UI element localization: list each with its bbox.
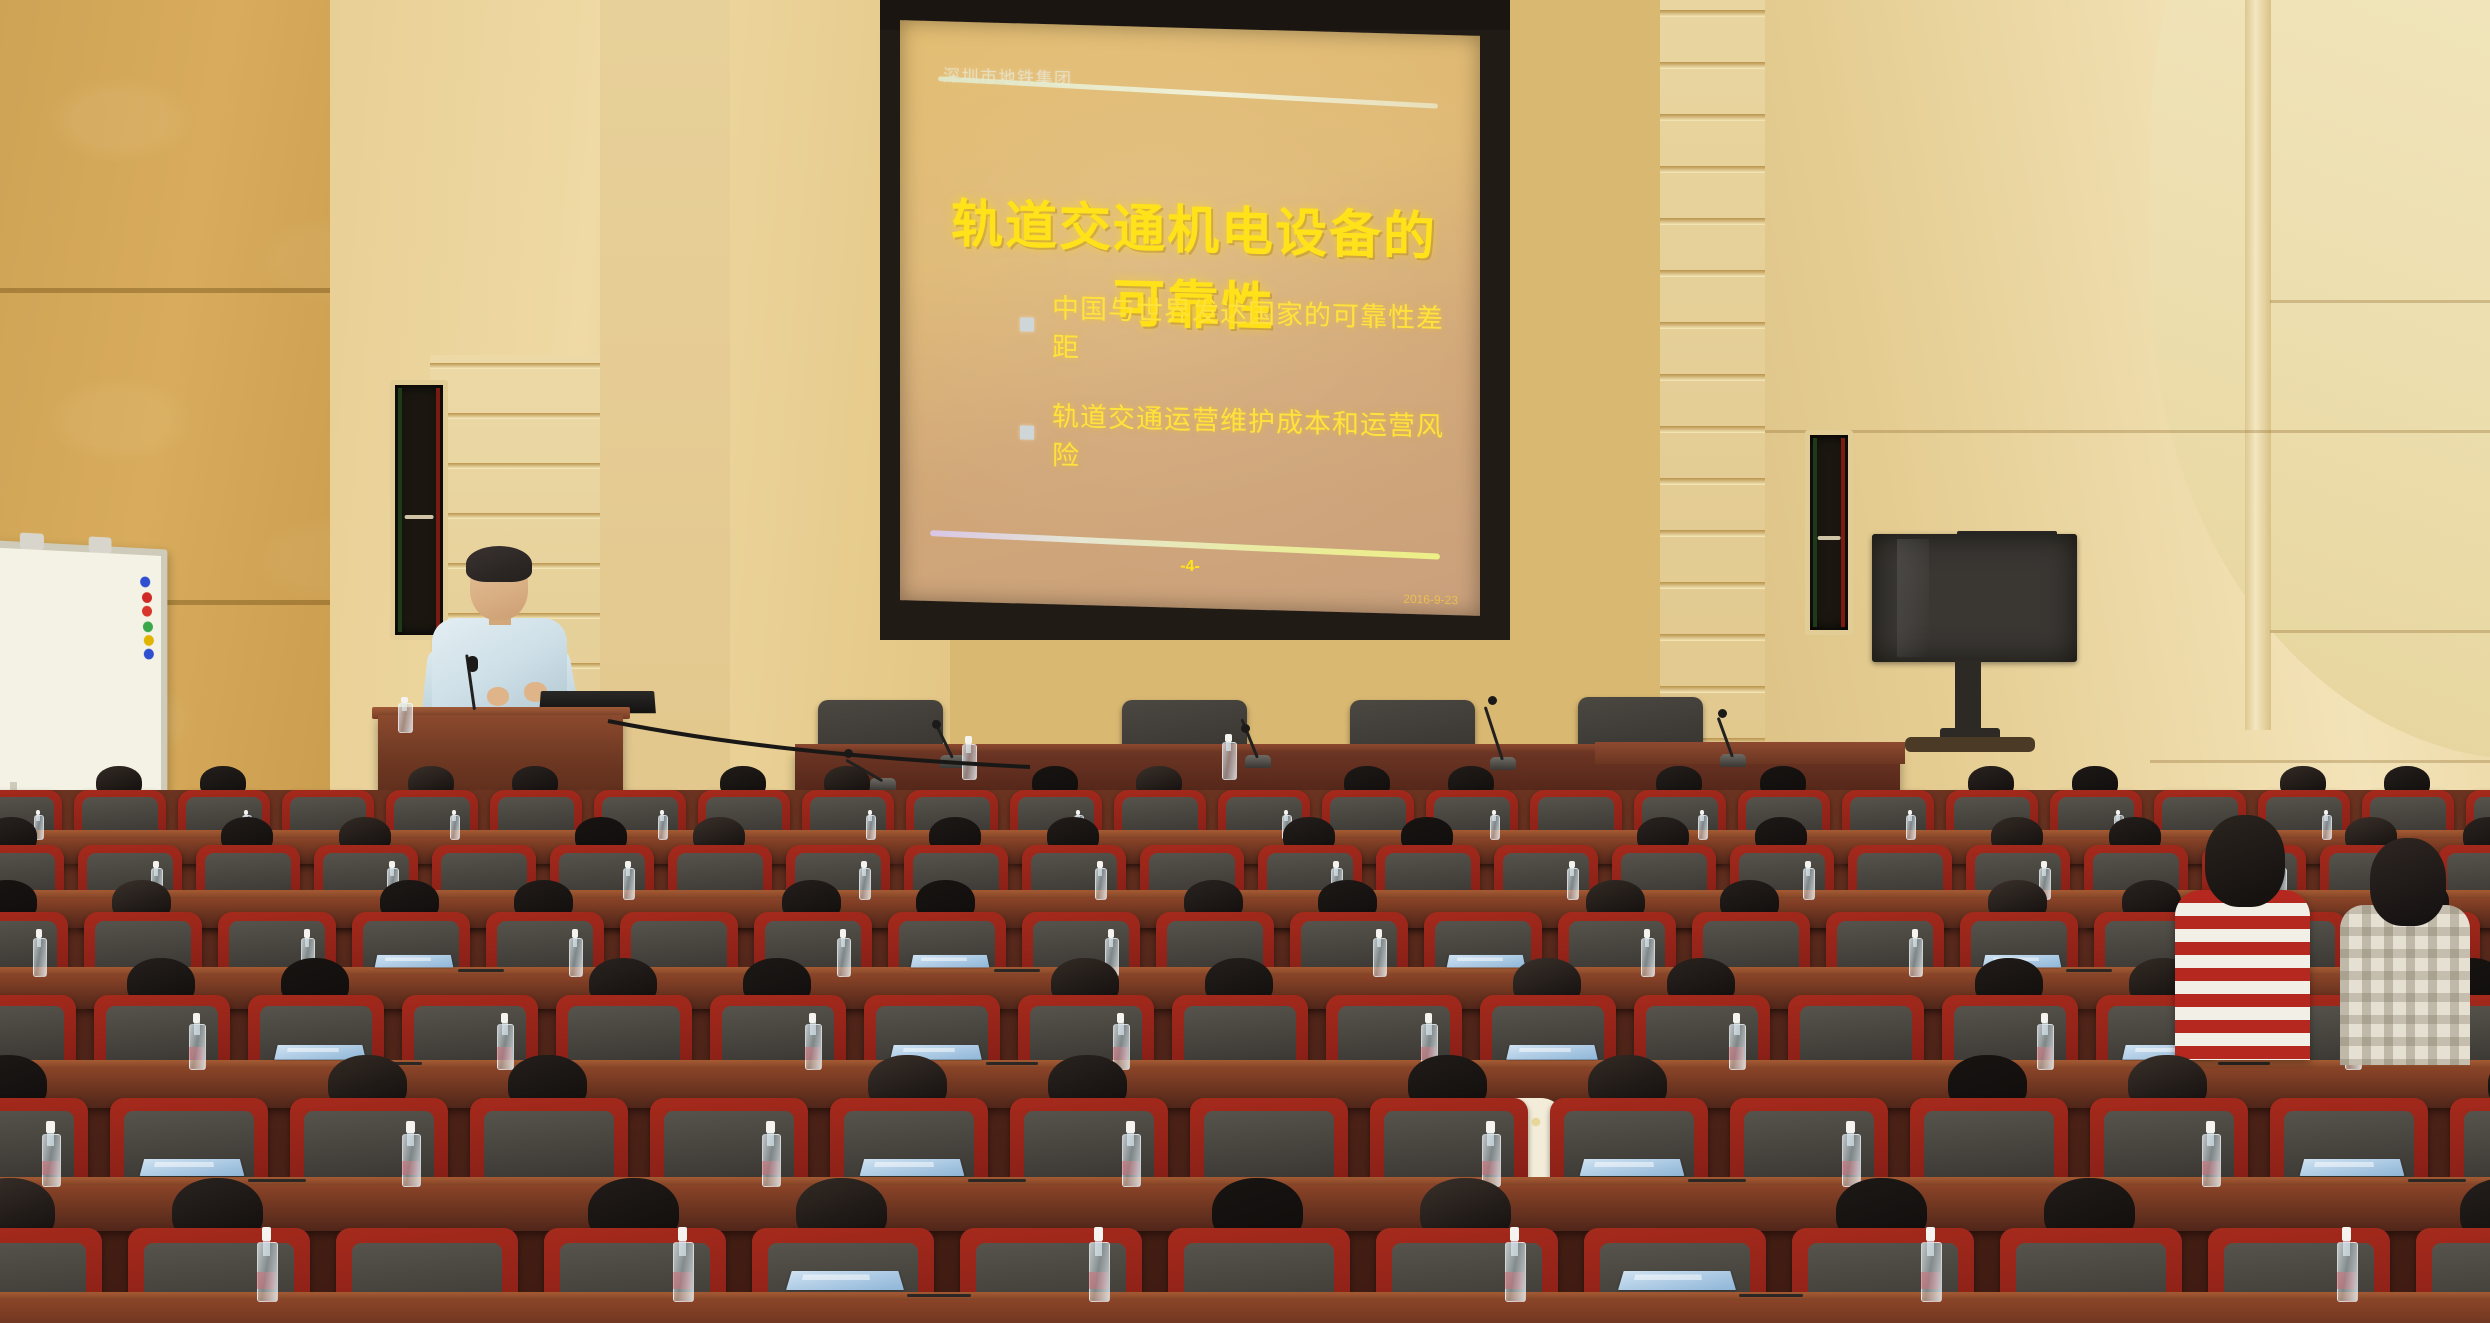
- bottle-neck: [1377, 937, 1382, 948]
- tv-stand-pole: [1955, 660, 1981, 732]
- list-item: 中国与世界发达国家的可靠性差距: [1020, 285, 1450, 375]
- ceiling-pillar: [2245, 0, 2271, 730]
- water-bottle: [450, 810, 458, 840]
- bottle-cap: [625, 861, 630, 868]
- water-bottle: [1122, 1121, 1139, 1187]
- pen: [2066, 969, 2112, 972]
- slide-bullet-text: 中国与世界发达国家的可靠性差距: [1052, 286, 1450, 375]
- bottle-neck: [1487, 1132, 1494, 1147]
- striped-shirt-attendee-head: [2205, 815, 2285, 907]
- water-bottle: [257, 1227, 276, 1302]
- booklet: [860, 1159, 965, 1176]
- bottle-cap: [572, 929, 578, 938]
- bottle-cap: [1805, 861, 1810, 868]
- magnet: [144, 649, 154, 660]
- bottle-label: [762, 1161, 779, 1176]
- magnet: [143, 621, 153, 632]
- bottle-label: [402, 1161, 419, 1176]
- bottle-cap: [46, 1121, 55, 1133]
- bottle-cap: [840, 929, 846, 938]
- bottle-neck: [1645, 937, 1650, 948]
- wall-slat: [430, 413, 620, 419]
- water-bottle: [189, 1013, 204, 1070]
- bottle-label: [257, 1272, 276, 1289]
- water-bottle: [2037, 1013, 2052, 1070]
- water-bottle: [1729, 1013, 1744, 1070]
- presenter-hair: [466, 546, 532, 582]
- water-bottle: [1921, 1227, 1940, 1302]
- bottle-cap: [406, 1121, 415, 1133]
- projection-screen: 深圳市地铁集团 轨道交通机电设备的可靠性 中国与世界发达国家的可靠性差距 轨道交…: [900, 20, 1480, 616]
- bottle-neck: [1426, 1022, 1432, 1035]
- wall-slat: [1660, 686, 1765, 693]
- water-bottle: [1222, 734, 1235, 780]
- bottle-label: [1122, 1161, 1139, 1176]
- pen: [907, 1294, 971, 1297]
- bottle-neck: [154, 867, 158, 876]
- panel-table-extension: [1595, 742, 1905, 764]
- magnet: [142, 592, 152, 603]
- wall-seam: [2270, 630, 2490, 633]
- water-bottle: [623, 861, 633, 900]
- bottle-neck: [1109, 937, 1114, 948]
- slide-date: 2016-9-23: [1403, 592, 1458, 607]
- wall-slat: [1660, 634, 1765, 641]
- bottle-neck: [660, 815, 663, 822]
- lectern-microphone: [462, 660, 488, 720]
- bottle-cap: [1846, 1121, 1855, 1133]
- wall-slat: [1660, 114, 1765, 121]
- whiteboard: [0, 540, 167, 809]
- bottle-neck: [1570, 867, 1574, 876]
- wall-slat: [1660, 426, 1765, 433]
- wall-slat: [430, 463, 620, 469]
- booklet: [2300, 1159, 2405, 1176]
- bottle-cap: [2041, 861, 2046, 868]
- bottle-label: [2037, 1047, 2052, 1060]
- bottle-neck: [1492, 815, 1495, 822]
- bottle-label: [2202, 1161, 2219, 1176]
- bottle-neck: [263, 1239, 271, 1256]
- bottle-neck: [390, 867, 394, 876]
- bottle-neck: [2343, 1239, 2351, 1256]
- bottle-label: [42, 1161, 59, 1176]
- bottle-neck: [2324, 815, 2327, 822]
- wall-seam: [2270, 300, 2490, 303]
- wall-slat: [1660, 374, 1765, 381]
- bottle-cap: [153, 861, 158, 868]
- booklet: [1618, 1271, 1736, 1290]
- bottle-cap: [1117, 1013, 1125, 1023]
- water-bottle: [402, 1121, 419, 1187]
- slide-header-rule: [938, 76, 1438, 108]
- wall-slat: [1660, 10, 1765, 17]
- panel-microphone: [1720, 705, 1746, 767]
- panel-microphone: [1490, 700, 1516, 770]
- water-bottle: [1909, 929, 1921, 977]
- wall-slat: [1660, 62, 1765, 69]
- bottle-cap: [1108, 929, 1114, 938]
- water-bottle: [1505, 1227, 1524, 1302]
- booklet: [1580, 1159, 1685, 1176]
- magnet: [140, 576, 150, 587]
- booklet: [375, 955, 454, 968]
- bottle-cap: [389, 861, 394, 868]
- bottle-cap: [1425, 1013, 1433, 1023]
- pen: [2408, 1179, 2466, 1182]
- bottle-neck: [2207, 1132, 2214, 1147]
- water-bottle: [2337, 1227, 2356, 1302]
- slide-bullet-list: 中国与世界发达国家的可靠性差距 轨道交通运营维护成本和运营风险: [1020, 285, 1450, 513]
- bottle-neck: [626, 867, 630, 876]
- bottle-cap: [1486, 1121, 1495, 1133]
- water-bottle: [1373, 929, 1385, 977]
- water-bottle: [1906, 810, 1914, 840]
- water-bottle: [2202, 1121, 2219, 1187]
- water-bottle: [2322, 810, 2330, 840]
- bottle-cap: [2206, 1121, 2215, 1133]
- bottle-neck: [841, 937, 846, 948]
- bottle-cap: [1644, 929, 1650, 938]
- bottle-label: [1921, 1272, 1940, 1289]
- water-bottle: [658, 810, 666, 840]
- bottle-neck: [47, 1132, 54, 1147]
- magnet: [144, 635, 154, 646]
- bottle-neck: [1908, 815, 1911, 822]
- bottle-cap: [1097, 861, 1102, 868]
- bottle-neck: [1511, 1239, 1519, 1256]
- bottle-label: [1842, 1161, 1859, 1176]
- bottle-neck: [1734, 1022, 1740, 1035]
- bottle-neck: [1806, 867, 1810, 876]
- wall-slat: [1660, 322, 1765, 329]
- bottle-cap: [262, 1227, 272, 1241]
- pen: [968, 1179, 1026, 1182]
- bottle-neck: [573, 937, 578, 948]
- wall-speaker-left: [390, 380, 448, 640]
- wall-slat: [1660, 166, 1765, 173]
- bottle-cap: [1376, 929, 1382, 938]
- water-bottle: [1698, 810, 1706, 840]
- wall-slat: [430, 513, 620, 519]
- pen: [994, 969, 1040, 972]
- bottle-cap: [1333, 861, 1338, 868]
- striped-shirt-attendee: [2175, 890, 2310, 1060]
- bottle-label: [673, 1272, 692, 1289]
- bottle-neck: [862, 867, 866, 876]
- water-bottle: [1567, 861, 1577, 900]
- slide-bullet-text: 轨道交通运营维护成本和运营风险: [1052, 394, 1450, 483]
- bullet-square-icon: [1020, 317, 1034, 331]
- water-bottle: [866, 810, 874, 840]
- bottle-neck: [1927, 1239, 1935, 1256]
- magnet: [142, 606, 152, 617]
- bottle-neck: [767, 1132, 774, 1147]
- water-bottle: [398, 697, 411, 733]
- pen: [2218, 1062, 2270, 1065]
- bottle-cap: [1926, 1227, 1936, 1241]
- presenter-left-hand: [487, 687, 509, 706]
- booklet: [786, 1271, 904, 1290]
- bottle-cap: [36, 929, 42, 938]
- bottle-neck: [868, 815, 871, 822]
- bottle-neck: [37, 937, 42, 948]
- desk-row: [0, 1300, 2490, 1323]
- water-bottle: [1089, 1227, 1108, 1302]
- lecture-hall-photo: 深圳市地铁集团 轨道交通机电设备的可靠性 中国与世界发达国家的可靠性差距 轨道交…: [0, 0, 2490, 1323]
- bottle-neck: [452, 815, 455, 822]
- bottle-neck: [1334, 867, 1338, 876]
- wall-speaker-right: [1805, 430, 1853, 635]
- bottle-neck: [305, 937, 310, 948]
- water-bottle: [1641, 929, 1653, 977]
- pen: [1739, 1294, 1803, 1297]
- bottle-cap: [678, 1227, 688, 1241]
- bottle-label: [1505, 1272, 1524, 1289]
- bottle-neck: [1118, 1022, 1124, 1035]
- bottle-label: [1729, 1047, 1744, 1060]
- water-bottle: [805, 1013, 820, 1070]
- bottle-label: [805, 1047, 820, 1060]
- bottle-label: [1482, 1161, 1499, 1176]
- water-bottle: [859, 861, 869, 900]
- wall-slat: [1660, 582, 1765, 589]
- bottle-cap: [1569, 861, 1574, 868]
- flat-screen-tv: [1872, 534, 2077, 662]
- plaid-shirt-attendee: [2340, 905, 2470, 1065]
- list-item: 轨道交通运营维护成本和运营风险: [1020, 393, 1450, 483]
- bottle-cap: [193, 1013, 201, 1023]
- water-bottle: [673, 1227, 692, 1302]
- bottle-cap: [809, 1013, 817, 1023]
- bottle-label: [189, 1047, 204, 1060]
- cable: [600, 715, 1040, 785]
- wall-slat: [430, 363, 620, 369]
- bottle-neck: [810, 1022, 816, 1035]
- water-bottle: [33, 929, 45, 977]
- pen: [458, 969, 504, 972]
- water-bottle: [569, 929, 581, 977]
- bottle-cap: [2342, 1227, 2352, 1241]
- pen: [986, 1062, 1038, 1065]
- bottle-cap: [1510, 1227, 1520, 1241]
- bottle-neck: [407, 1132, 414, 1147]
- wall-slat: [1660, 478, 1765, 485]
- wall-slat: [1660, 530, 1765, 537]
- pen: [1688, 1179, 1746, 1182]
- bottle-cap: [861, 861, 866, 868]
- booklet: [911, 955, 990, 968]
- bottle-cap: [766, 1121, 775, 1133]
- bottle-cap: [2041, 1013, 2049, 1023]
- water-bottle: [762, 1121, 779, 1187]
- wall-seam: [0, 288, 360, 293]
- bottle-neck: [2042, 867, 2046, 876]
- wall-slat: [1660, 270, 1765, 277]
- bottle-label: [1089, 1272, 1108, 1289]
- booklet: [140, 1159, 245, 1176]
- bottle-cap: [1912, 929, 1918, 938]
- panel-microphone: [1245, 712, 1271, 768]
- bottle-cap: [501, 1013, 509, 1023]
- tv-stand-base: [1905, 737, 2035, 752]
- booklet: [1506, 1045, 1598, 1060]
- bottle-neck: [1847, 1132, 1854, 1147]
- bottle-cap: [1733, 1013, 1741, 1023]
- bullet-square-icon: [1020, 425, 1034, 439]
- water-bottle: [1490, 810, 1498, 840]
- water-bottle: [1095, 861, 1105, 900]
- bottle-neck: [1700, 815, 1703, 822]
- bottle-cap: [1126, 1121, 1135, 1133]
- bottle-label: [2337, 1272, 2356, 1289]
- bottle-neck: [1127, 1132, 1134, 1147]
- bottle-neck: [1098, 867, 1102, 876]
- water-bottle: [837, 929, 849, 977]
- bottle-cap: [1094, 1227, 1104, 1241]
- bottle-neck: [1913, 937, 1918, 948]
- bottle-neck: [194, 1022, 200, 1035]
- bottle-neck: [502, 1022, 508, 1035]
- bottle-neck: [1095, 1239, 1103, 1256]
- plaid-shirt-attendee-head: [2370, 838, 2446, 926]
- bottle-cap: [304, 929, 310, 938]
- bottle-neck: [679, 1239, 687, 1256]
- wall-slat: [1660, 218, 1765, 225]
- water-bottle: [1803, 861, 1813, 900]
- wall-seam: [2150, 760, 2490, 763]
- bottle-neck: [2042, 1022, 2048, 1035]
